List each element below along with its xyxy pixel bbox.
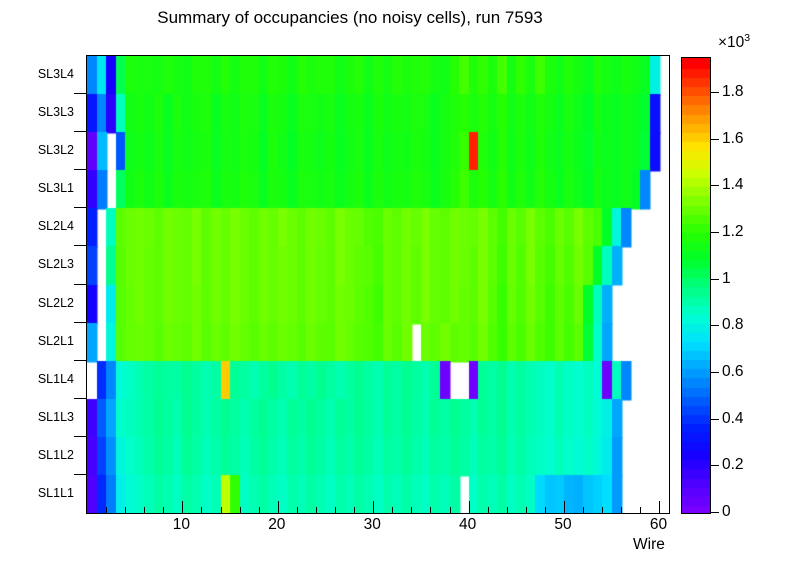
color-bar-tick	[710, 92, 719, 93]
x-axis-minor-tick	[621, 507, 622, 513]
x-axis-minor-tick	[106, 507, 107, 513]
color-bar-tick	[710, 465, 719, 466]
plot-frame	[86, 55, 670, 514]
x-axis-major-tick	[278, 501, 279, 513]
y-axis-label-sl1l2: SL1L2	[38, 448, 74, 462]
y-axis-tick	[74, 169, 86, 170]
x-axis-minor-tick	[297, 507, 298, 513]
color-bar-tick-label-0: 0	[722, 503, 731, 521]
x-axis-tick-label-30: 30	[364, 516, 381, 534]
y-axis-tick	[74, 207, 86, 208]
color-bar-tick-label-0.2: 0.2	[722, 456, 744, 474]
y-axis-label-sl2l3: SL2L3	[38, 257, 74, 271]
y-axis-tick	[74, 398, 86, 399]
y-axis-labels: SL3L4SL3L3SL3L2SL3L1SL2L4SL2L3SL2L2SL2L1…	[0, 55, 82, 512]
y-axis-tick	[74, 436, 86, 437]
color-bar-multiplier: ×103	[718, 32, 750, 52]
x-axis-minor-tick	[354, 507, 355, 513]
y-axis-tick	[74, 322, 86, 323]
y-axis-tick	[74, 284, 86, 285]
x-axis-minor-tick	[201, 507, 202, 513]
color-bar-tick	[710, 512, 719, 513]
x-axis-tick-label-60: 60	[650, 516, 667, 534]
color-bar-tick-label-1: 1	[722, 270, 731, 288]
y-axis-label-sl3l3: SL3L3	[38, 105, 74, 119]
x-axis-minor-tick	[221, 507, 222, 513]
heatmap-canvas[interactable]	[87, 56, 669, 513]
x-axis-major-tick	[182, 501, 183, 513]
chart-canvas: Summary of occupancies (no noisy cells),…	[0, 0, 796, 572]
x-axis-minor-tick	[316, 507, 317, 513]
x-axis-major-tick	[659, 501, 660, 513]
y-axis-label-sl3l2: SL3L2	[38, 143, 74, 157]
x-axis-minor-tick	[335, 507, 336, 513]
x-axis-tick-label-50: 50	[554, 516, 571, 534]
x-axis-tick-label-20: 20	[268, 516, 285, 534]
color-bar-tick-label-0.8: 0.8	[722, 316, 744, 334]
x-axis-minor-tick	[144, 507, 145, 513]
x-axis-minor-tick	[259, 507, 260, 513]
color-bar-tick	[710, 139, 719, 140]
x-axis-tick-label-10: 10	[173, 516, 190, 534]
color-bar-tick-label-0.4: 0.4	[722, 410, 744, 428]
color-bar-multiplier-exponent: 3	[744, 32, 750, 44]
y-axis-tick	[74, 131, 86, 132]
color-bar-multiplier-base: ×10	[718, 34, 744, 51]
page-title: Summary of occupancies (no noisy cells),…	[0, 8, 700, 28]
color-bar-ticks: 00.20.40.60.811.21.41.61.8	[681, 57, 796, 512]
y-axis-label-sl3l4: SL3L4	[38, 67, 74, 81]
y-axis-label-sl3l1: SL3L1	[38, 181, 74, 195]
y-axis-tick	[74, 93, 86, 94]
y-axis-tick	[74, 360, 86, 361]
y-axis-label-sl2l2: SL2L2	[38, 296, 74, 310]
x-axis-minor-tick	[602, 507, 603, 513]
x-axis-minor-tick	[411, 507, 412, 513]
color-bar-tick	[710, 372, 719, 373]
x-axis-minor-tick	[545, 507, 546, 513]
color-bar-tick	[710, 419, 719, 420]
x-axis-title: Wire	[633, 536, 665, 554]
x-axis-major-tick	[373, 501, 374, 513]
x-axis-minor-tick	[240, 507, 241, 513]
x-axis-minor-tick	[583, 507, 584, 513]
color-bar-tick-label-1.4: 1.4	[722, 176, 744, 194]
x-axis-major-tick	[564, 501, 565, 513]
y-axis-label-sl2l1: SL2L1	[38, 334, 74, 348]
x-axis-minor-tick	[507, 507, 508, 513]
x-axis-minor-tick	[488, 507, 489, 513]
color-bar-tick	[710, 232, 719, 233]
color-bar-tick-label-1.6: 1.6	[722, 130, 744, 148]
x-axis-minor-tick	[640, 507, 641, 513]
y-axis-tick	[74, 245, 86, 246]
x-axis-minor-tick	[430, 507, 431, 513]
x-axis-minor-tick	[163, 507, 164, 513]
x-axis-tick-label-40: 40	[459, 516, 476, 534]
y-axis-label-sl1l1: SL1L1	[38, 486, 74, 500]
x-axis-minor-tick	[526, 507, 527, 513]
y-axis-label-sl2l4: SL2L4	[38, 219, 74, 233]
x-axis-minor-tick	[392, 507, 393, 513]
x-axis-major-tick	[469, 501, 470, 513]
color-bar-tick-label-0.6: 0.6	[722, 363, 744, 381]
color-bar-tick-label-1.8: 1.8	[722, 83, 744, 101]
color-bar-tick	[710, 325, 719, 326]
color-bar-tick-label-1.2: 1.2	[722, 223, 744, 241]
color-bar-tick	[710, 185, 719, 186]
y-axis-label-sl1l4: SL1L4	[38, 372, 74, 386]
color-bar-tick	[710, 279, 719, 280]
x-axis-minor-tick	[125, 507, 126, 513]
x-axis-minor-tick	[450, 507, 451, 513]
y-axis-label-sl1l3: SL1L3	[38, 410, 74, 424]
y-axis-tick	[74, 474, 86, 475]
